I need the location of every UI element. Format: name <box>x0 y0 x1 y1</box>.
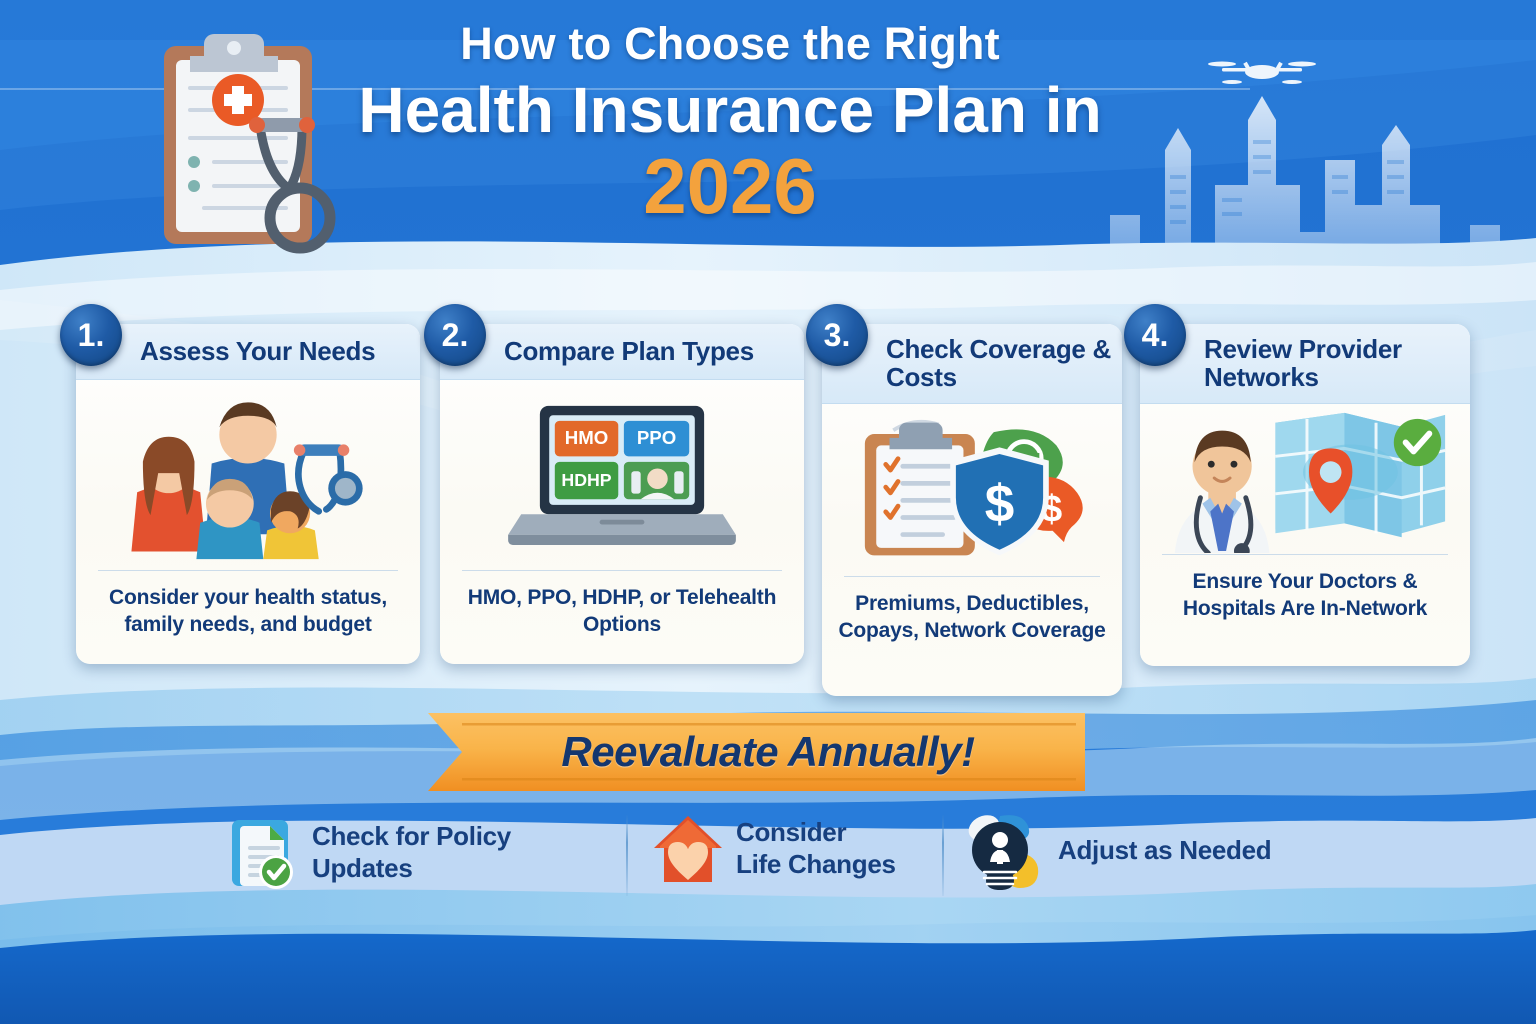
document-check-icon <box>228 814 300 892</box>
house-heart-icon <box>652 810 724 888</box>
step-card-3[interactable]: 3. Check Coverage & Costs <box>822 324 1122 696</box>
step-badge-4: 4. <box>1124 304 1186 366</box>
footer-tips: Check for Policy Updates Consider Life C… <box>0 800 1536 920</box>
family-with-stethoscope-icon <box>76 380 420 570</box>
step-header-4: Review Provider Networks <box>1140 324 1470 404</box>
step-badge-2: 2. <box>424 304 486 366</box>
header: How to Choose the Right Health Insurance… <box>0 0 1536 300</box>
footer-item-policy-updates[interactable]: Check for Policy Updates <box>228 814 618 892</box>
step-title-2: Compare Plan Types <box>504 338 754 365</box>
footer-divider-1 <box>626 814 628 896</box>
doctor-map-pin-icon <box>1140 404 1470 554</box>
clipboard-shield-dollar-icon: $ $ <box>822 404 1122 576</box>
footer-label-1: Check for Policy Updates <box>312 821 618 884</box>
step-title-3: Check Coverage & Costs <box>886 336 1114 391</box>
footer-item-life-changes[interactable]: Consider Life Changes <box>652 810 932 888</box>
title-line-1: How to Choose the Right <box>330 20 1130 67</box>
svg-text:HDHP: HDHP <box>561 470 611 490</box>
footer-label-3: Adjust as Needed <box>1058 835 1271 867</box>
svg-text:HMO: HMO <box>565 427 609 448</box>
title-block: How to Choose the Right Health Insurance… <box>330 20 1130 225</box>
step-desc-1: Consider your health status, family need… <box>76 571 420 648</box>
step-desc-3: Premiums, Deductibles, Copays, Network C… <box>822 577 1122 654</box>
step-badge-1: 1. <box>60 304 122 366</box>
step-header-2: Compare Plan Types <box>440 324 804 380</box>
step-card-2[interactable]: 2. Compare Plan Types HMO PPO HDHP <box>440 324 804 664</box>
clipboard-medical-icon <box>152 26 348 264</box>
laptop-plan-tiles-icon: HMO PPO HDHP <box>440 380 804 570</box>
step-header-1: Assess Your Needs <box>76 324 420 380</box>
step-card-1[interactable]: 1. Assess Your Needs <box>76 324 420 664</box>
step-badge-3: 3. <box>806 304 868 366</box>
settings-gear-person-icon <box>960 808 1046 894</box>
step-desc-2: HMO, PPO, HDHP, or Telehealth Options <box>440 571 804 648</box>
footer-label-2: Consider Life Changes <box>736 817 896 880</box>
reevaluate-ribbon: Reevaluate Annually! <box>0 707 1536 797</box>
steps-row: 1. Assess Your Needs <box>0 300 1536 700</box>
title-line-2: Health Insurance Plan in <box>330 75 1130 147</box>
step-desc-4: Ensure Your Doctors & Hospitals Are In-N… <box>1140 555 1470 632</box>
footer-divider-2 <box>942 814 944 896</box>
step-title-1: Assess Your Needs <box>140 338 375 365</box>
step-card-4[interactable]: 4. Review Provider Networks <box>1140 324 1470 666</box>
footer-item-adjust[interactable]: Adjust as Needed <box>960 808 1360 894</box>
ribbon-label: Reevaluate Annually! <box>0 707 1536 797</box>
svg-text:PPO: PPO <box>637 427 676 448</box>
title-year: 2026 <box>330 147 1130 225</box>
step-title-4: Review Provider Networks <box>1204 336 1462 391</box>
svg-text:$: $ <box>985 474 1015 533</box>
